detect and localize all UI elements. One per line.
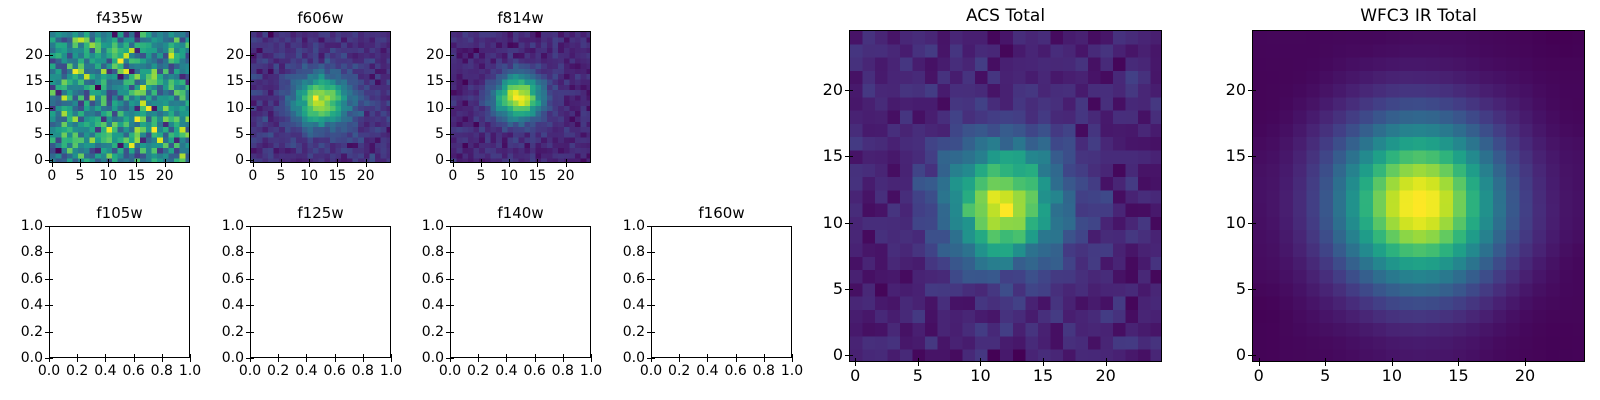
ytick-inner-f140w-0 <box>450 358 454 359</box>
xticklabel-f435w-4: 20 <box>156 169 174 183</box>
ytick-inner-f160w-1 <box>651 332 655 333</box>
ytick-inner-f105w-4 <box>49 252 53 253</box>
xticklabel-f105w-5: 1.0 <box>179 364 201 378</box>
xticklabel-f435w-1: 5 <box>76 169 85 183</box>
matplotlib-figure: f435w0510152005101520f606w05101520051015… <box>0 0 1600 400</box>
panel-title-f160w: f160w <box>651 204 792 222</box>
xtick-f814w-4 <box>566 163 567 167</box>
yticklabel-f435w-0: 0 <box>0 153 43 167</box>
ytick-inner-f606w-1 <box>250 134 254 135</box>
xticklabel-f814w-1: 5 <box>477 169 486 183</box>
image-acs_total <box>850 31 1162 362</box>
xticklabel-f140w-0: 0.0 <box>439 364 461 378</box>
xtick-inner-f160w-4 <box>764 354 765 358</box>
xtick-inner-f125w-3 <box>335 354 336 358</box>
yticklabel-f814w-3: 15 <box>390 74 444 88</box>
xtick-inner-f606w-2 <box>309 159 310 163</box>
xticklabel-acs_total-3: 15 <box>1033 368 1053 384</box>
ytick-inner-f140w-4 <box>450 252 454 253</box>
yticklabel-wfc3_ir_total-3: 15 <box>1192 148 1246 164</box>
xtick-f140w-2 <box>506 358 507 362</box>
xtick-inner-wfc3_ir_total-2 <box>1392 358 1393 362</box>
ytick-inner-f606w-4 <box>250 55 254 56</box>
xtick-inner-f606w-4 <box>366 159 367 163</box>
ytick-inner-f160w-4 <box>651 252 655 253</box>
image-wfc3_ir_total <box>1253 31 1585 362</box>
ytick-inner-f105w-5 <box>49 226 53 227</box>
xtick-inner-f435w-1 <box>80 159 81 163</box>
yticklabel-f606w-3: 15 <box>190 74 244 88</box>
xticklabel-f606w-3: 15 <box>328 169 346 183</box>
yticklabel-wfc3_ir_total-0: 0 <box>1192 347 1246 363</box>
ytick-inner-f125w-0 <box>250 358 254 359</box>
xticklabel-f814w-0: 0 <box>448 169 457 183</box>
xticklabel-f160w-2: 0.4 <box>696 364 718 378</box>
axes-acs_total <box>849 30 1162 362</box>
xtick-f435w-0 <box>52 163 53 167</box>
yticklabel-f125w-0: 0.0 <box>190 351 244 365</box>
xtick-f814w-0 <box>453 163 454 167</box>
xticklabel-f160w-1: 0.2 <box>668 364 690 378</box>
xtick-f160w-4 <box>764 358 765 362</box>
image-f606w <box>251 32 391 163</box>
xticklabel-wfc3_ir_total-4: 20 <box>1515 368 1535 384</box>
xticklabel-f140w-3: 0.6 <box>523 364 545 378</box>
xtick-inner-f140w-4 <box>563 354 564 358</box>
xticklabel-f435w-2: 10 <box>99 169 117 183</box>
yticklabel-f606w-1: 5 <box>190 127 244 141</box>
yticklabel-f160w-0: 0.0 <box>591 351 645 365</box>
xticklabel-f105w-2: 0.4 <box>94 364 116 378</box>
axes-f160w <box>651 226 792 358</box>
xticklabel-wfc3_ir_total-0: 0 <box>1254 368 1264 384</box>
ytick-inner-f606w-3 <box>250 81 254 82</box>
yticklabel-f606w-4: 20 <box>190 48 244 62</box>
axes-f140w <box>450 226 591 358</box>
ytick-inner-wfc3_ir_total-1 <box>1252 289 1256 290</box>
yticklabel-f814w-2: 10 <box>390 101 444 115</box>
yticklabel-f814w-1: 5 <box>390 127 444 141</box>
xtick-f125w-2 <box>306 358 307 362</box>
yticklabel-f105w-1: 0.2 <box>0 325 43 339</box>
ytick-inner-f140w-5 <box>450 226 454 227</box>
yticklabel-acs_total-4: 20 <box>789 82 843 98</box>
axes-f814w <box>450 31 591 163</box>
xticklabel-f140w-5: 1.0 <box>580 364 602 378</box>
xtick-f140w-4 <box>563 358 564 362</box>
ytick-inner-f160w-2 <box>651 305 655 306</box>
yticklabel-acs_total-2: 10 <box>789 215 843 231</box>
xtick-inner-acs_total-1 <box>918 358 919 362</box>
ytick-inner-f160w-5 <box>651 226 655 227</box>
xtick-f160w-3 <box>736 358 737 362</box>
yticklabel-f160w-5: 1.0 <box>591 219 645 233</box>
yticklabel-f125w-1: 0.2 <box>190 325 244 339</box>
xticklabel-acs_total-1: 5 <box>913 368 923 384</box>
yticklabel-f125w-4: 0.8 <box>190 245 244 259</box>
ytick-inner-acs_total-3 <box>849 156 853 157</box>
xtick-f606w-2 <box>309 163 310 167</box>
xtick-f125w-3 <box>335 358 336 362</box>
xtick-inner-wfc3_ir_total-0 <box>1259 358 1260 362</box>
xticklabel-acs_total-4: 20 <box>1095 368 1115 384</box>
ytick-inner-wfc3_ir_total-4 <box>1252 90 1256 91</box>
yticklabel-f606w-2: 10 <box>190 101 244 115</box>
axes-f606w <box>250 31 391 163</box>
ytick-inner-f140w-1 <box>450 332 454 333</box>
xtick-f125w-4 <box>363 358 364 362</box>
xtick-inner-f125w-1 <box>278 354 279 358</box>
xtick-f435w-3 <box>136 163 137 167</box>
xtick-f606w-0 <box>253 163 254 167</box>
xtick-inner-f105w-2 <box>105 354 106 358</box>
panel-title-f125w: f125w <box>250 204 391 222</box>
xtick-inner-f435w-4 <box>165 159 166 163</box>
xtick-f160w-2 <box>707 358 708 362</box>
ytick-inner-f105w-1 <box>49 332 53 333</box>
xticklabel-f814w-2: 10 <box>500 169 518 183</box>
panel-title-f814w: f814w <box>450 9 591 27</box>
ytick-inner-f606w-0 <box>250 160 254 161</box>
xticklabel-f105w-3: 0.6 <box>122 364 144 378</box>
ytick-inner-f435w-2 <box>49 108 53 109</box>
xtick-inner-f435w-3 <box>136 159 137 163</box>
xticklabel-f606w-1: 5 <box>277 169 286 183</box>
yticklabel-f125w-2: 0.4 <box>190 298 244 312</box>
ytick-inner-f814w-2 <box>450 108 454 109</box>
yticklabel-f140w-0: 0.0 <box>390 351 444 365</box>
xtick-f435w-1 <box>80 163 81 167</box>
xtick-inner-acs_total-3 <box>1043 358 1044 362</box>
ytick-inner-acs_total-1 <box>849 289 853 290</box>
yticklabel-f140w-4: 0.8 <box>390 245 444 259</box>
yticklabel-f105w-4: 0.8 <box>0 245 43 259</box>
ytick-inner-f435w-3 <box>49 81 53 82</box>
xticklabel-f125w-2: 0.4 <box>295 364 317 378</box>
xtick-inner-wfc3_ir_total-1 <box>1325 358 1326 362</box>
xticklabel-f125w-4: 0.8 <box>352 364 374 378</box>
ytick-inner-f435w-4 <box>49 55 53 56</box>
xticklabel-f160w-3: 0.6 <box>724 364 746 378</box>
yticklabel-f435w-3: 15 <box>0 74 43 88</box>
xtick-f606w-3 <box>337 163 338 167</box>
xticklabel-f814w-4: 20 <box>557 169 575 183</box>
ytick-inner-f140w-3 <box>450 279 454 280</box>
yticklabel-f160w-3: 0.6 <box>591 272 645 286</box>
yticklabel-f105w-2: 0.4 <box>0 298 43 312</box>
xtick-f606w-4 <box>366 163 367 167</box>
yticklabel-f105w-0: 0.0 <box>0 351 43 365</box>
ytick-inner-f125w-3 <box>250 279 254 280</box>
xticklabel-acs_total-2: 10 <box>970 368 990 384</box>
xtick-f814w-1 <box>481 163 482 167</box>
yticklabel-wfc3_ir_total-1: 5 <box>1192 281 1246 297</box>
xticklabel-f125w-1: 0.2 <box>267 364 289 378</box>
ytick-inner-acs_total-4 <box>849 90 853 91</box>
xticklabel-f105w-4: 0.8 <box>151 364 173 378</box>
ytick-inner-f435w-1 <box>49 134 53 135</box>
panel-title-wfc3_ir_total: WFC3 IR Total <box>1252 6 1585 26</box>
xticklabel-wfc3_ir_total-3: 15 <box>1448 368 1468 384</box>
xticklabel-f160w-5: 1.0 <box>781 364 803 378</box>
xticklabel-f606w-4: 20 <box>357 169 375 183</box>
yticklabel-f606w-0: 0 <box>190 153 244 167</box>
xticklabel-f160w-0: 0.0 <box>640 364 662 378</box>
panel-title-acs_total: ACS Total <box>849 6 1162 26</box>
yticklabel-acs_total-3: 15 <box>789 148 843 164</box>
xtick-inner-f814w-2 <box>509 159 510 163</box>
ytick-inner-f435w-0 <box>49 160 53 161</box>
xtick-inner-f140w-2 <box>506 354 507 358</box>
xtick-inner-f814w-1 <box>481 159 482 163</box>
xtick-f105w-1 <box>77 358 78 362</box>
xticklabel-wfc3_ir_total-1: 5 <box>1320 368 1330 384</box>
xtick-f140w-1 <box>478 358 479 362</box>
yticklabel-f160w-2: 0.4 <box>591 298 645 312</box>
ytick-inner-f105w-3 <box>49 279 53 280</box>
yticklabel-f125w-5: 1.0 <box>190 219 244 233</box>
xticklabel-f140w-4: 0.8 <box>552 364 574 378</box>
xticklabel-f105w-0: 0.0 <box>38 364 60 378</box>
ytick-inner-f105w-0 <box>49 358 53 359</box>
ytick-inner-f105w-2 <box>49 305 53 306</box>
xtick-inner-f606w-1 <box>281 159 282 163</box>
xtick-f814w-3 <box>537 163 538 167</box>
yticklabel-f140w-5: 1.0 <box>390 219 444 233</box>
xticklabel-f435w-3: 15 <box>127 169 145 183</box>
yticklabel-f160w-4: 0.8 <box>591 245 645 259</box>
ytick-inner-f160w-0 <box>651 358 655 359</box>
xticklabel-f125w-3: 0.6 <box>323 364 345 378</box>
xticklabel-f105w-1: 0.2 <box>66 364 88 378</box>
xticklabel-wfc3_ir_total-2: 10 <box>1382 368 1402 384</box>
xtick-inner-wfc3_ir_total-3 <box>1458 358 1459 362</box>
ytick-inner-f140w-2 <box>450 305 454 306</box>
xtick-inner-f125w-4 <box>363 354 364 358</box>
xticklabel-f606w-2: 10 <box>300 169 318 183</box>
xtick-f105w-2 <box>105 358 106 362</box>
ytick-inner-wfc3_ir_total-0 <box>1252 355 1256 356</box>
xticklabel-f814w-3: 15 <box>528 169 546 183</box>
yticklabel-f814w-4: 20 <box>390 48 444 62</box>
yticklabel-f435w-2: 10 <box>0 101 43 115</box>
xtick-f606w-1 <box>281 163 282 167</box>
xticklabel-f435w-0: 0 <box>47 169 56 183</box>
ytick-inner-f814w-4 <box>450 55 454 56</box>
ytick-inner-wfc3_ir_total-3 <box>1252 156 1256 157</box>
yticklabel-f140w-2: 0.4 <box>390 298 444 312</box>
xtick-inner-f125w-2 <box>306 354 307 358</box>
ytick-inner-f814w-0 <box>450 160 454 161</box>
xtick-f435w-4 <box>165 163 166 167</box>
xtick-inner-acs_total-4 <box>1106 358 1107 362</box>
yticklabel-f105w-3: 0.6 <box>0 272 43 286</box>
yticklabel-acs_total-1: 5 <box>789 281 843 297</box>
xtick-inner-f105w-4 <box>162 354 163 358</box>
xticklabel-f125w-0: 0.0 <box>239 364 261 378</box>
yticklabel-f140w-1: 0.2 <box>390 325 444 339</box>
axes-f435w <box>49 31 190 163</box>
panel-title-f105w: f105w <box>49 204 190 222</box>
yticklabel-f125w-3: 0.6 <box>190 272 244 286</box>
xtick-inner-f140w-3 <box>535 354 536 358</box>
xticklabel-f125w-5: 1.0 <box>380 364 402 378</box>
xticklabel-f140w-1: 0.2 <box>467 364 489 378</box>
xticklabel-f140w-2: 0.4 <box>495 364 517 378</box>
xtick-inner-f814w-3 <box>537 159 538 163</box>
yticklabel-wfc3_ir_total-2: 10 <box>1192 215 1246 231</box>
xticklabel-f160w-4: 0.8 <box>753 364 775 378</box>
xtick-f125w-1 <box>278 358 279 362</box>
xtick-inner-f606w-3 <box>337 159 338 163</box>
xtick-inner-f160w-1 <box>679 354 680 358</box>
xtick-inner-wfc3_ir_total-4 <box>1525 358 1526 362</box>
ytick-inner-f125w-5 <box>250 226 254 227</box>
yticklabel-f140w-3: 0.6 <box>390 272 444 286</box>
ytick-inner-f814w-3 <box>450 81 454 82</box>
ytick-inner-f125w-2 <box>250 305 254 306</box>
xticklabel-f606w-0: 0 <box>248 169 257 183</box>
image-f435w <box>50 32 190 163</box>
ytick-inner-f606w-2 <box>250 108 254 109</box>
image-f814w <box>451 32 591 163</box>
ytick-inner-acs_total-2 <box>849 223 853 224</box>
yticklabel-f435w-1: 5 <box>0 127 43 141</box>
xtick-f435w-2 <box>108 163 109 167</box>
ytick-inner-f125w-1 <box>250 332 254 333</box>
ytick-inner-acs_total-0 <box>849 355 853 356</box>
yticklabel-f105w-5: 1.0 <box>0 219 43 233</box>
panel-title-f435w: f435w <box>49 9 190 27</box>
xtick-f160w-1 <box>679 358 680 362</box>
axes-wfc3_ir_total <box>1252 30 1585 362</box>
xtick-f814w-2 <box>509 163 510 167</box>
ytick-inner-f160w-3 <box>651 279 655 280</box>
yticklabel-f814w-0: 0 <box>390 153 444 167</box>
axes-f105w <box>49 226 190 358</box>
axes-f125w <box>250 226 391 358</box>
xtick-inner-f160w-2 <box>707 354 708 358</box>
xtick-inner-f160w-3 <box>736 354 737 358</box>
xtick-f105w-3 <box>134 358 135 362</box>
xtick-f105w-4 <box>162 358 163 362</box>
xtick-inner-f140w-1 <box>478 354 479 358</box>
panel-title-f606w: f606w <box>250 9 391 27</box>
panel-title-f140w: f140w <box>450 204 591 222</box>
xtick-inner-f814w-4 <box>566 159 567 163</box>
xtick-inner-f435w-2 <box>108 159 109 163</box>
xtick-inner-acs_total-0 <box>855 358 856 362</box>
ytick-inner-wfc3_ir_total-2 <box>1252 223 1256 224</box>
ytick-inner-f125w-4 <box>250 252 254 253</box>
xtick-inner-acs_total-2 <box>980 358 981 362</box>
xtick-inner-f105w-1 <box>77 354 78 358</box>
xtick-f140w-3 <box>535 358 536 362</box>
yticklabel-f435w-4: 20 <box>0 48 43 62</box>
ytick-inner-f814w-1 <box>450 134 454 135</box>
yticklabel-wfc3_ir_total-4: 20 <box>1192 82 1246 98</box>
xtick-inner-f105w-3 <box>134 354 135 358</box>
yticklabel-f160w-1: 0.2 <box>591 325 645 339</box>
yticklabel-acs_total-0: 0 <box>789 347 843 363</box>
xticklabel-acs_total-0: 0 <box>850 368 860 384</box>
